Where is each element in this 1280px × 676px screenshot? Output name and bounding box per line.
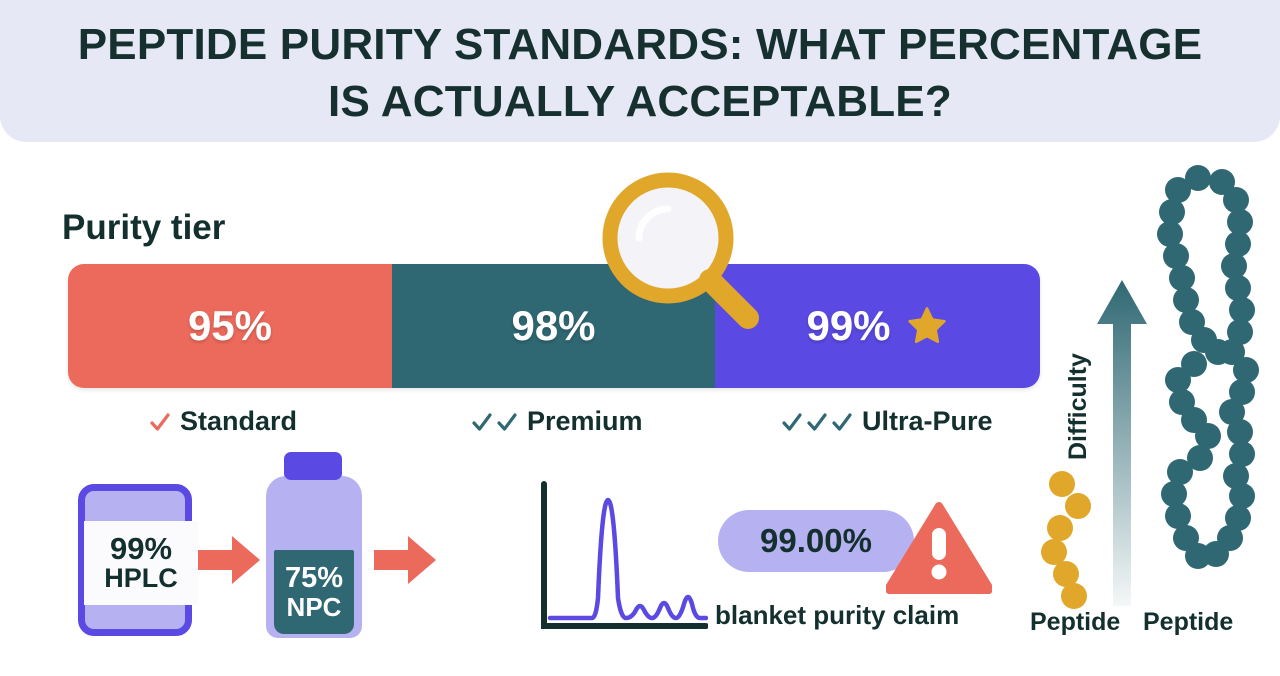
tier-value-ultra: 99% <box>806 302 890 350</box>
magnifier-icon <box>592 166 792 351</box>
difficulty-axis-label: Difficulty <box>1064 353 1093 460</box>
infographic-canvas: PEPTIDE PURITY STANDARDS: WHAT PERCENTAG… <box>0 0 1280 676</box>
check-icon <box>148 410 172 434</box>
tier-caption-label-ultra: Ultra-Pure <box>862 406 993 437</box>
chromatogram-chart <box>534 478 708 636</box>
warning-icon <box>886 500 992 594</box>
tier-segment-standard[interactable]: 95% <box>68 264 392 388</box>
tier-caption-label-standard: Standard <box>180 406 297 437</box>
check-icon <box>495 410 519 434</box>
check-icon <box>805 410 829 434</box>
hplc-device-card: 99% HPLC <box>78 484 192 636</box>
tier-value-standard: 95% <box>188 302 272 350</box>
npc-method: NPC <box>287 594 342 621</box>
peptide-label-large: Peptide <box>1143 608 1233 637</box>
section-label-purity-tier: Purity tier <box>62 208 225 248</box>
check-group-ultra <box>780 410 854 434</box>
check-group-standard <box>148 410 172 434</box>
peptide-chain-large-icon <box>1142 164 1280 614</box>
tier-value-premium: 98% <box>511 302 595 350</box>
purity-claim-badge: 99.00% <box>718 510 914 572</box>
purity-claim-value: 99.00% <box>760 522 872 560</box>
hplc-screen: 99% HPLC <box>84 521 198 605</box>
arrow-right-icon <box>196 530 262 590</box>
npc-value: 75% <box>285 563 343 593</box>
check-icon <box>830 410 854 434</box>
hplc-method: HPLC <box>104 565 178 593</box>
check-icon <box>780 410 804 434</box>
vial-liquid: 75% NPC <box>274 550 354 634</box>
tier-caption-premium: Premium <box>470 406 643 437</box>
chromatogram-trace <box>550 500 706 618</box>
tier-caption-ultra: Ultra-Pure <box>780 406 993 437</box>
peptide-label-small: Peptide <box>1030 608 1120 637</box>
peptide-chain-small-icon <box>1040 470 1100 610</box>
tier-caption-label-premium: Premium <box>527 406 643 437</box>
npc-vial: 75% NPC <box>258 452 370 638</box>
check-group-premium <box>470 410 519 434</box>
arrow-right-icon <box>372 530 438 590</box>
tier-caption-standard: Standard <box>148 406 297 437</box>
purity-claim-caption: blanket purity claim <box>715 600 959 631</box>
check-icon <box>470 410 494 434</box>
hplc-value: 99% <box>110 533 172 565</box>
star-icon <box>905 304 949 348</box>
page-title: PEPTIDE PURITY STANDARDS: WHAT PERCENTAG… <box>60 16 1220 130</box>
vial-cap <box>284 452 342 480</box>
difficulty-arrow-icon <box>1095 278 1149 608</box>
purity-tier-bar[interactable]: 95% 98% 99% <box>68 264 1040 388</box>
